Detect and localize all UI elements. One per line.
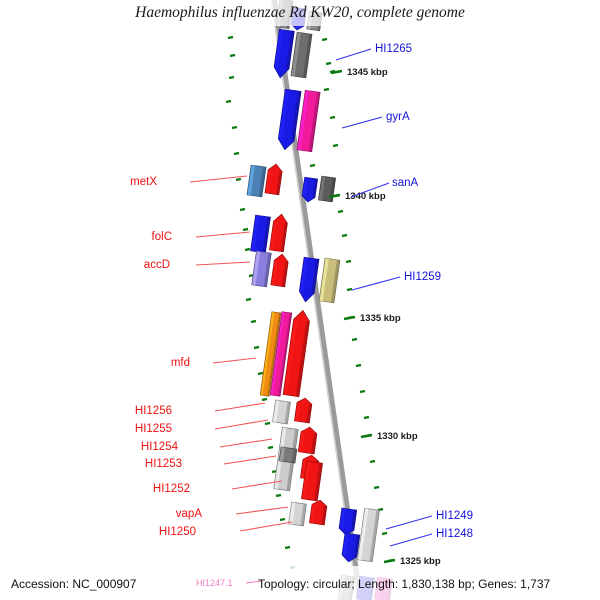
gene-glyph[interactable] — [294, 397, 312, 423]
gene-glyph[interactable] — [252, 251, 272, 287]
label-leader-line — [196, 262, 250, 265]
gene-label-sana[interactable]: sanA — [392, 177, 419, 189]
label-leader-line — [215, 420, 268, 429]
tick-mark — [246, 299, 251, 300]
gene-glyph[interactable] — [309, 499, 327, 525]
gene-glyph[interactable] — [298, 426, 317, 454]
tick-mark — [265, 423, 270, 424]
label-leader-line — [224, 456, 276, 464]
tick-mark — [228, 37, 233, 38]
gene-label-hi1249[interactable]: HI1249 — [436, 510, 473, 522]
tick-mark — [280, 519, 285, 520]
label-leader-line — [220, 439, 272, 447]
gene-glyph[interactable] — [273, 400, 291, 424]
tick-mark — [322, 39, 327, 40]
gene-label-hi1255[interactable]: HI1255 — [135, 423, 172, 435]
topology-text: Topology: circular; Length: 1,830,138 bp… — [258, 577, 550, 591]
coordinate-tick-dash — [361, 435, 372, 437]
gene-glyph[interactable] — [277, 89, 301, 151]
tick-mark — [236, 179, 241, 180]
label-leader-line — [390, 534, 432, 546]
coordinate-label: 1345 kbp — [347, 67, 388, 78]
tick-mark — [326, 63, 331, 64]
tick-mark — [370, 461, 375, 462]
tick-mark — [245, 249, 250, 250]
gene-glyph[interactable] — [297, 90, 320, 152]
gene-label-vapa[interactable]: vapA — [176, 508, 203, 520]
gene-label-hi1252[interactable]: HI1252 — [153, 483, 190, 495]
label-leader-line — [240, 522, 292, 531]
gene-glyph[interactable] — [319, 258, 340, 303]
tick-mark — [347, 289, 352, 290]
gene-label-hi1248[interactable]: HI1248 — [436, 528, 473, 540]
gene-label-hi1265[interactable]: HI1265 — [375, 43, 412, 55]
gene-label-folc[interactable]: folC — [152, 231, 172, 243]
tick-mark — [330, 117, 335, 118]
tick-mark — [268, 447, 273, 448]
gene-label-mfd[interactable]: mfd — [171, 357, 190, 369]
gene-glyph[interactable] — [247, 165, 266, 197]
tick-mark — [285, 547, 290, 548]
gene-label-gyra[interactable]: gyrA — [386, 111, 410, 123]
label-leader-line — [386, 516, 432, 529]
tick-mark — [346, 261, 351, 262]
gene-label-hi1253[interactable]: HI1253 — [145, 458, 182, 470]
tick-mark — [262, 399, 267, 400]
tick-mark — [364, 417, 369, 418]
label-leader-line — [213, 358, 256, 363]
gene-glyph[interactable] — [338, 508, 356, 536]
coordinate-label: 1330 kbp — [377, 431, 418, 442]
tick-mark — [356, 365, 361, 366]
tick-mark — [382, 533, 387, 534]
tick-mark — [360, 391, 365, 392]
tick-mark — [230, 55, 235, 56]
coordinate-tick-dash — [344, 317, 355, 319]
gene-label-metx[interactable]: metX — [130, 176, 157, 188]
tick-mark — [232, 127, 237, 128]
tick-mark — [258, 373, 263, 374]
gene-label-hi1254[interactable]: HI1254 — [141, 441, 179, 453]
tick-mark — [333, 145, 338, 146]
gene-label-hi1256[interactable]: HI1256 — [135, 405, 172, 417]
gene-glyph[interactable] — [265, 163, 283, 195]
tick-mark — [234, 153, 239, 154]
tick-mark — [324, 89, 329, 90]
tick-mark — [226, 101, 231, 102]
tick-mark — [310, 165, 315, 166]
label-leader-line — [196, 232, 250, 237]
gene-label-hi1250[interactable]: HI1250 — [159, 526, 196, 538]
gene-glyph[interactable] — [269, 213, 288, 252]
label-leader-line — [215, 403, 265, 411]
gene-glyph[interactable] — [318, 176, 335, 202]
gene-glyph[interactable] — [357, 508, 379, 562]
tick-mark — [276, 495, 281, 496]
accession-text: Accession: NC_000907 — [11, 577, 136, 591]
tick-mark — [352, 339, 357, 340]
gene-label-accd[interactable]: accD — [144, 259, 170, 271]
tick-mark — [254, 347, 259, 348]
label-leader-line — [352, 277, 400, 290]
gene-glyph[interactable] — [251, 215, 271, 253]
label-leader-line — [236, 507, 288, 514]
gene-glyph[interactable] — [271, 253, 289, 287]
tick-mark — [243, 229, 248, 230]
genome-map-canvas[interactable]: 1345 kbp1340 kbp1335 kbp1330 kbp1325 kbp… — [0, 0, 600, 600]
coordinate-tick-dash — [384, 560, 395, 562]
label-leader-line — [336, 49, 371, 60]
gene-label-hi1259[interactable]: HI1259 — [404, 271, 441, 283]
tick-mark — [342, 235, 347, 236]
coordinate-label: 1335 kbp — [360, 313, 401, 324]
status-bar: Accession: NC_000907 Topology: circular;… — [0, 566, 600, 600]
tick-mark — [374, 487, 379, 488]
gene-glyph[interactable] — [291, 32, 312, 78]
tick-mark — [251, 321, 256, 322]
gene-glyph[interactable] — [279, 447, 297, 463]
page-title: Haemophilus influenzae Rd KW20, complete… — [0, 4, 600, 22]
tick-mark — [240, 209, 245, 210]
tick-mark — [229, 77, 234, 78]
tick-mark — [338, 211, 343, 212]
label-leader-line — [342, 117, 382, 128]
